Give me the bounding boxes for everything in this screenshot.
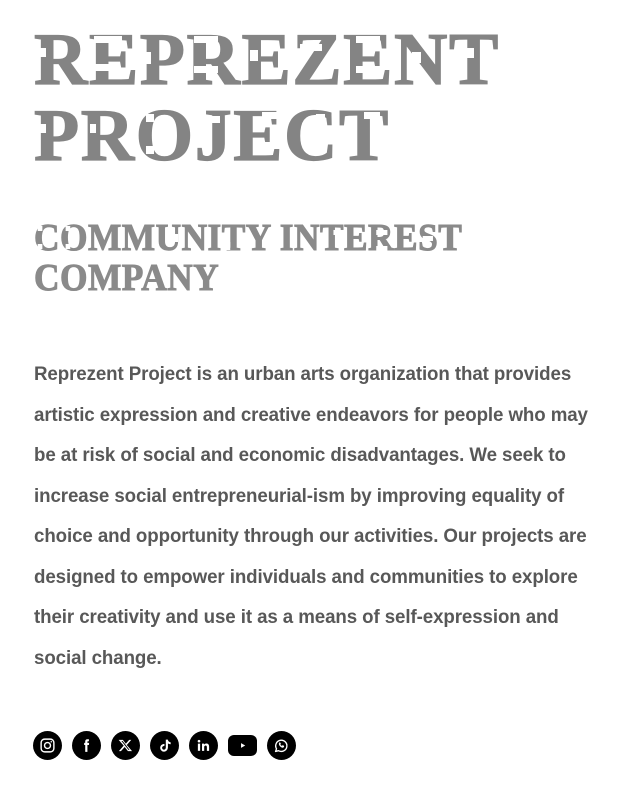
page-title-line-2: PROJECT — [34, 98, 554, 174]
instagram-icon[interactable]: Instagram — [33, 731, 62, 760]
page-root: REPREZENT PROJECT — [0, 0, 630, 799]
about-paragraph: Reprezent Project is an urban arts organ… — [34, 354, 589, 678]
whatsapp-icon[interactable]: WhatsApp — [267, 731, 296, 760]
page-subtitle-text: COMMUNITY INTEREST COMPANY — [34, 217, 462, 299]
linkedin-icon[interactable]: LinkedIn — [189, 731, 218, 760]
youtube-icon[interactable]: YouTube — [228, 735, 257, 756]
hero-section: REPREZENT PROJECT — [0, 0, 630, 298]
social-links-row: Instagram Facebook X TikTok — [33, 731, 296, 760]
page-title-line-1-text: REPREZENT — [34, 19, 500, 101]
page-title-line-1: REPREZENT — [34, 22, 554, 98]
page-subtitle: COMMUNITY INTEREST COMPANY — [34, 218, 560, 298]
page-title-line-2-text: PROJECT — [34, 95, 390, 177]
facebook-icon[interactable]: Facebook — [72, 731, 101, 760]
page-title: REPREZENT PROJECT — [34, 22, 554, 174]
tiktok-icon[interactable]: TikTok — [150, 731, 179, 760]
x-twitter-icon[interactable]: X — [111, 731, 140, 760]
